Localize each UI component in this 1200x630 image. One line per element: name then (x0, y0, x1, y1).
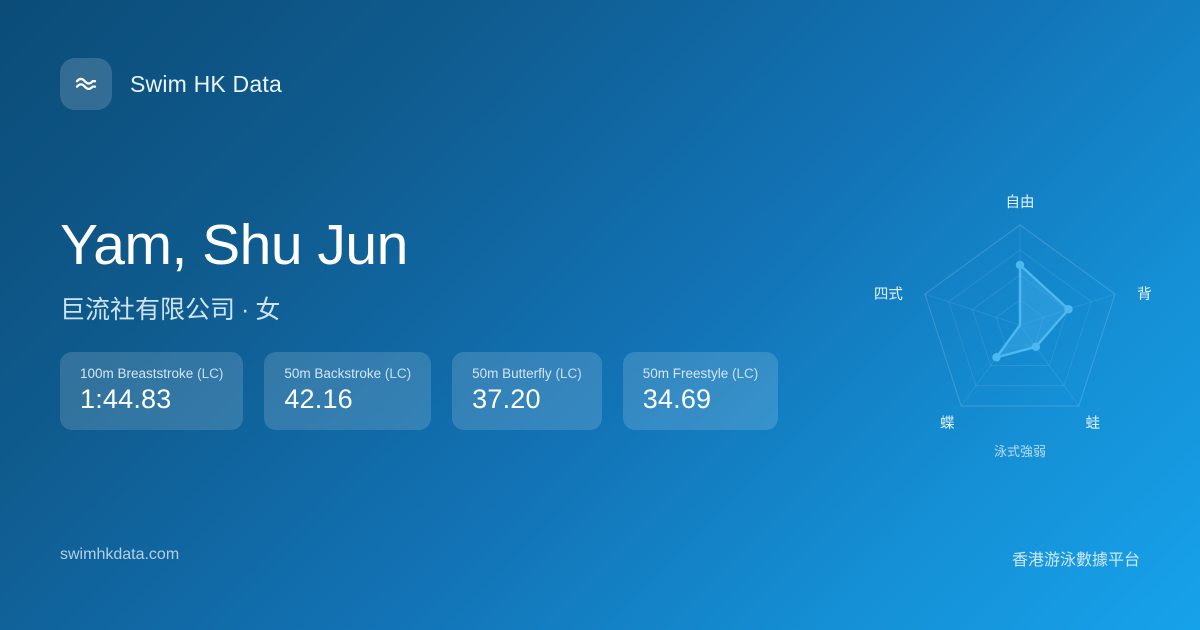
radar-axis-spoke (925, 294, 1020, 325)
stat-card[interactable]: 50m Freestyle (LC) 34.69 (623, 352, 779, 430)
stat-card-label: 50m Butterfly (LC) (472, 366, 582, 381)
stat-card[interactable]: 50m Butterfly (LC) 37.20 (452, 352, 602, 430)
stat-event-name: 100m Breaststroke (80, 366, 193, 381)
radar-axis-label: 自由 (1006, 194, 1035, 211)
radar-svg: 自由背蛙蝶四式 (870, 160, 1170, 460)
meta-separator: · (235, 296, 255, 324)
brand-header: Swim HK Data (60, 58, 282, 110)
stat-course-code: (LC) (197, 366, 223, 381)
stat-event-name: 50m Freestyle (643, 366, 729, 381)
wave-icon (60, 58, 112, 110)
stat-card-label: 100m Breaststroke (LC) (80, 366, 223, 381)
footer-site-url: swimhkdata.com (60, 546, 179, 564)
stat-card-time: 42.16 (284, 384, 411, 415)
brand-name: Swim HK Data (130, 71, 282, 98)
radar-axis-label: 蛙 (1086, 415, 1101, 432)
stat-card-list: 100m Breaststroke (LC) 1:44.83 50m Backs… (60, 352, 778, 430)
page-title: Yam, Shu Jun (60, 216, 408, 276)
stat-event-name: 50m Butterfly (472, 366, 552, 381)
stat-course-code: (LC) (555, 366, 581, 381)
stat-card-label: 50m Backstroke (LC) (284, 366, 411, 381)
stat-card-label: 50m Freestyle (LC) (643, 366, 759, 381)
athlete-meta: 巨流社有限公司·女 (60, 290, 408, 326)
stat-card[interactable]: 100m Breaststroke (LC) 1:44.83 (60, 352, 243, 430)
stat-card[interactable]: 50m Backstroke (LC) 42.16 (264, 352, 431, 430)
radar-data-point (1032, 343, 1040, 351)
radar-data-point (1064, 305, 1072, 313)
radar-chart-caption: 泳式強弱 (870, 441, 1170, 460)
radar-data-point (1016, 261, 1024, 269)
athlete-club: 巨流社有限公司 (60, 296, 235, 324)
stat-card-time: 37.20 (472, 384, 582, 415)
stroke-strength-radar-chart: 自由背蛙蝶四式 泳式強弱 (870, 160, 1170, 480)
stat-card-time: 1:44.83 (80, 384, 223, 415)
athlete-hero: Yam, Shu Jun 巨流社有限公司·女 (60, 216, 408, 326)
stat-card-time: 34.69 (643, 384, 759, 415)
athlete-gender: 女 (255, 296, 280, 324)
radar-data-point (992, 353, 1000, 361)
radar-axis-label: 背 (1137, 286, 1152, 303)
radar-data-polygon (996, 265, 1068, 357)
stat-event-name: 50m Backstroke (284, 366, 381, 381)
radar-axis-label: 四式 (874, 286, 903, 303)
footer-tagline: 香港游泳數據平台 (1012, 546, 1140, 570)
stat-course-code: (LC) (385, 366, 411, 381)
radar-axis-label: 蝶 (940, 415, 955, 432)
stat-course-code: (LC) (732, 366, 758, 381)
